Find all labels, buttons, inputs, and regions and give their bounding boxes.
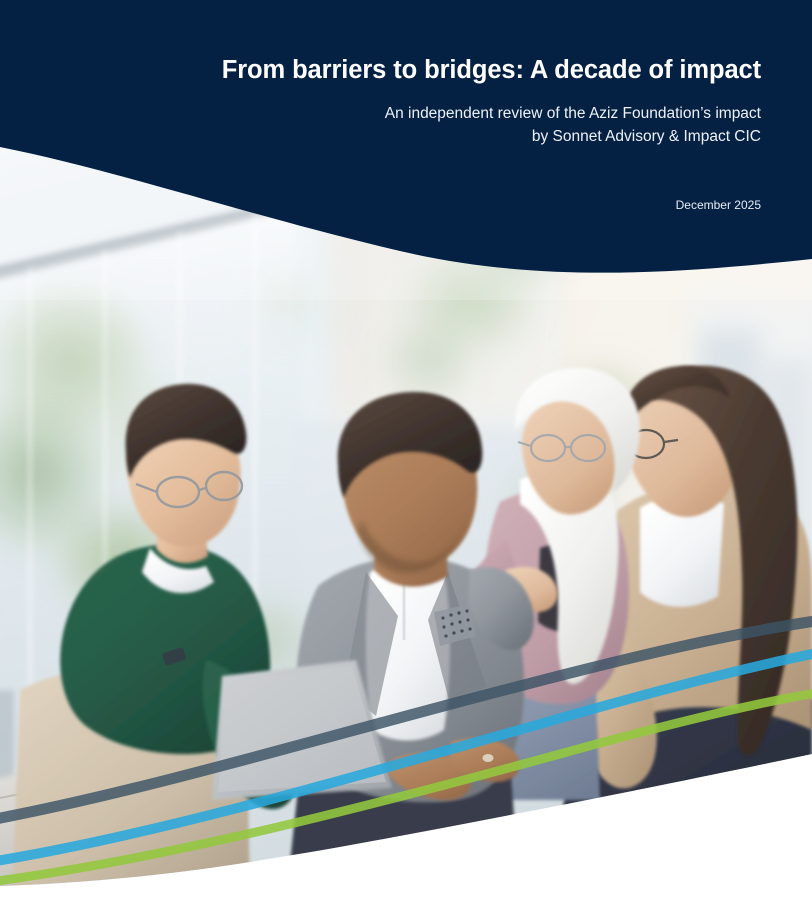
header-text-block: From barriers to bridges: A decade of im… (0, 0, 812, 250)
subtitle-line-2: by Sonnet Advisory & Impact CIC (51, 126, 761, 148)
page-title: From barriers to bridges: A decade of im… (51, 56, 761, 85)
page-subtitle: An independent review of the Aziz Founda… (51, 103, 761, 148)
document-cover-page: From barriers to bridges: A decade of im… (0, 0, 812, 903)
subtitle-line-1: An independent review of the Aziz Founda… (51, 103, 761, 125)
publication-date: December 2025 (51, 198, 761, 212)
